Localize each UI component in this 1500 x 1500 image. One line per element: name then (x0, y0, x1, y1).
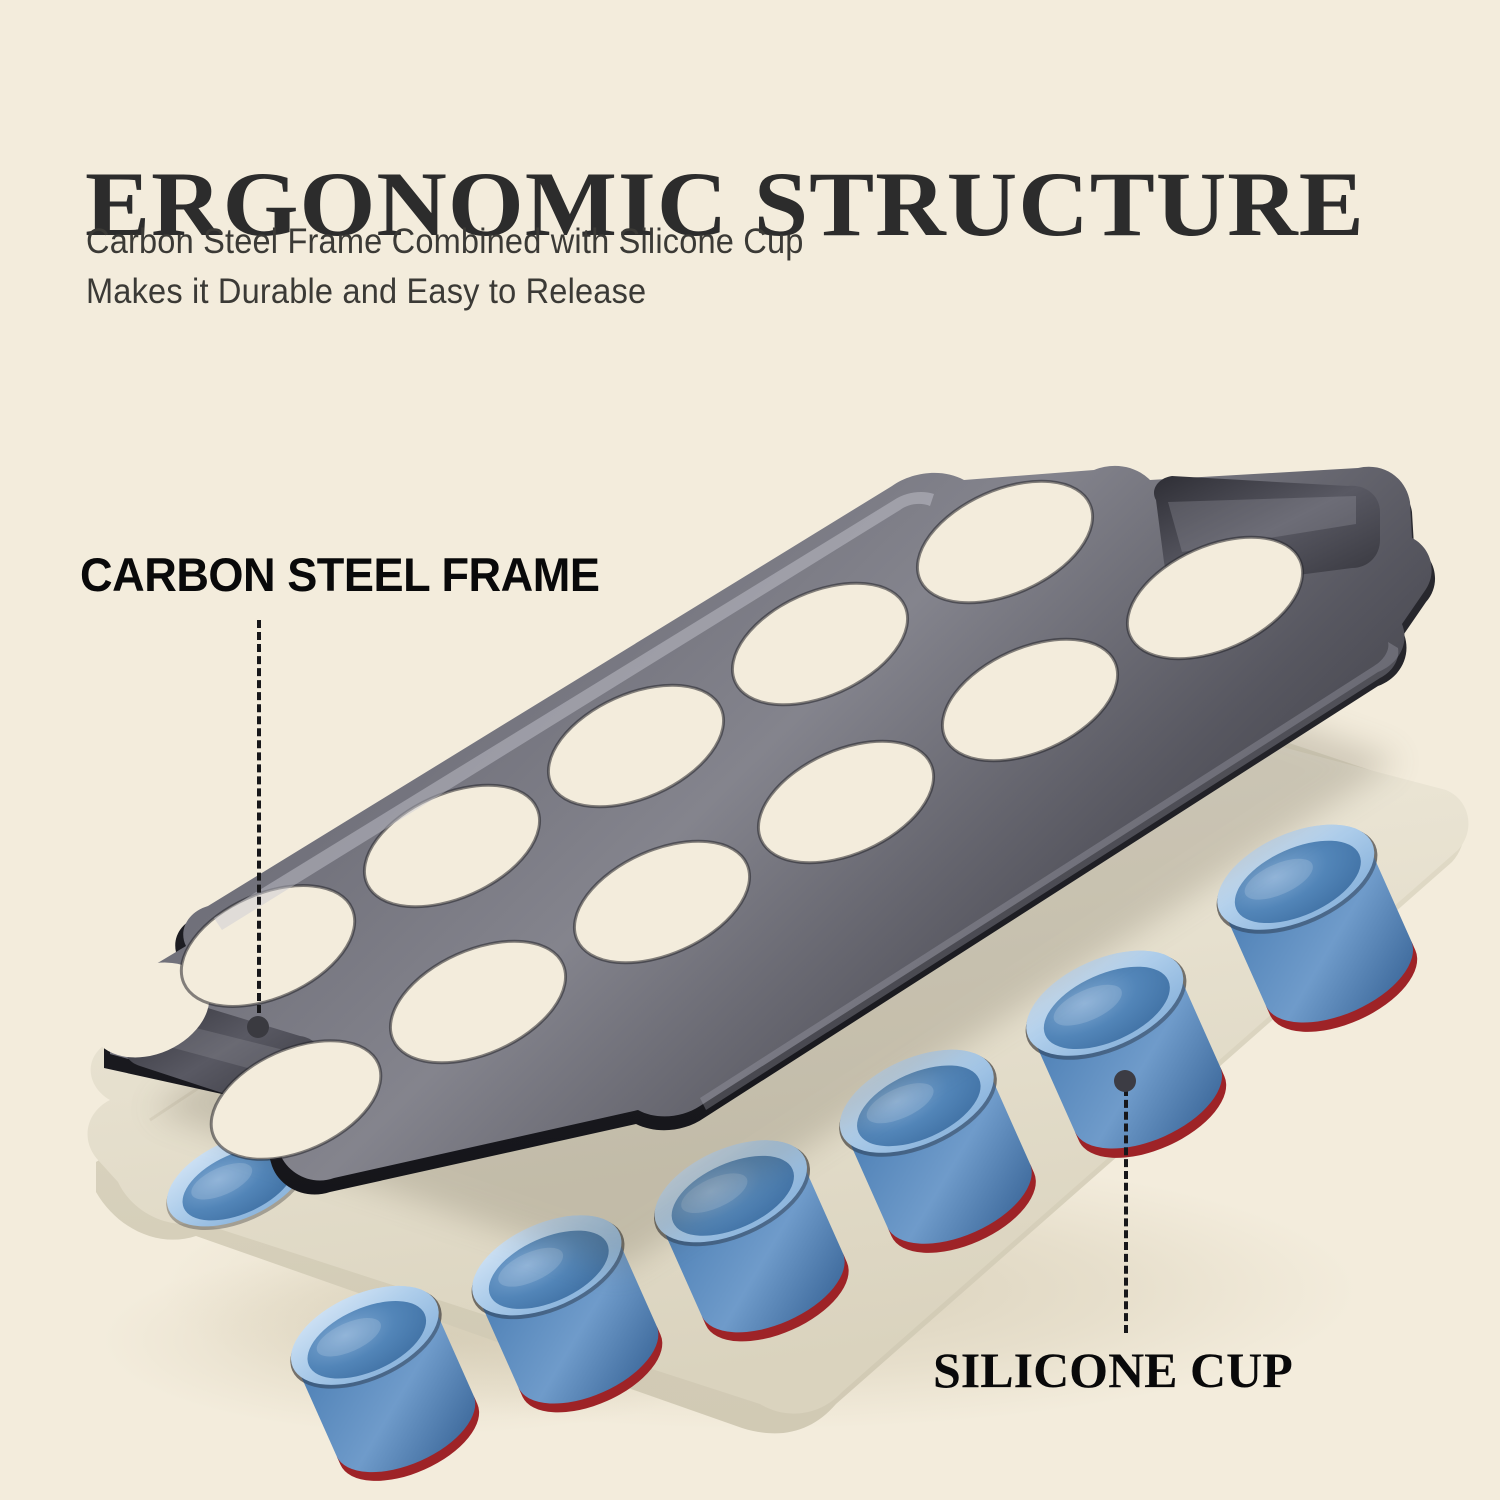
leader-line-silicone-cup (1124, 1088, 1128, 1333)
leader-dot-carbon-steel-frame (247, 1016, 269, 1038)
infographic-canvas: ERGONOMIC STRUCTURE Carbon Steel Frame C… (0, 0, 1500, 1500)
callout-label-carbon-steel-frame: CARBON STEEL FRAME (80, 551, 599, 598)
subtitle-line-1: Carbon Steel Frame Combined with Silicon… (86, 222, 804, 262)
leader-dot-silicone-cup (1114, 1070, 1136, 1092)
subtitle-line-2: Makes it Durable and Easy to Release (86, 272, 646, 312)
leader-line-carbon-steel-frame (257, 620, 261, 1025)
callout-label-silicone-cup: SILICONE CUP (933, 1345, 1293, 1395)
